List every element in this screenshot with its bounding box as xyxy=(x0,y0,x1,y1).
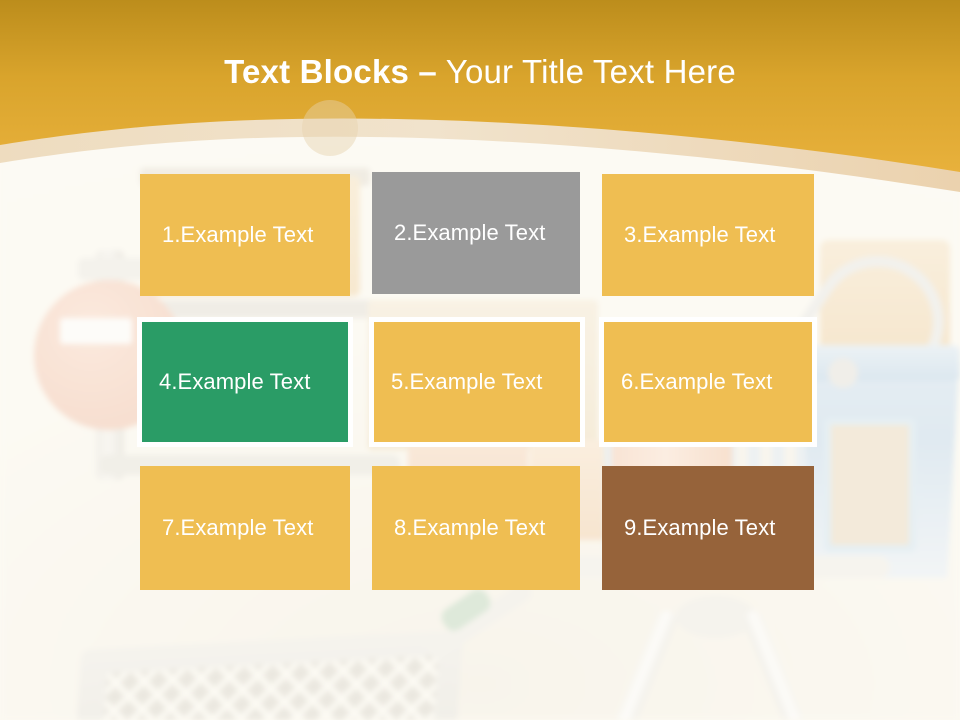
text-block-8[interactable]: 8.Example Text xyxy=(372,466,580,590)
text-block-7[interactable]: 7.Example Text xyxy=(140,466,350,590)
text-block-4[interactable]: 4.Example Text xyxy=(137,317,353,447)
slide-canvas: Text Blocks – Your Title Text Here 1.Exa… xyxy=(0,0,960,720)
text-block-9[interactable]: 9.Example Text xyxy=(602,466,814,590)
text-block-1[interactable]: 1.Example Text xyxy=(140,174,350,296)
text-block-label: 8.Example Text xyxy=(394,515,545,541)
text-block-label: 5.Example Text xyxy=(391,369,542,395)
text-block-label: 1.Example Text xyxy=(162,222,313,248)
text-block-3[interactable]: 3.Example Text xyxy=(602,174,814,296)
text-block-2[interactable]: 2.Example Text xyxy=(372,172,580,294)
text-block-6[interactable]: 6.Example Text xyxy=(599,317,817,447)
text-block-label: 3.Example Text xyxy=(624,222,775,248)
text-block-label: 9.Example Text xyxy=(624,515,775,541)
text-block-label: 4.Example Text xyxy=(159,369,310,395)
text-block-label: 2.Example Text xyxy=(394,220,545,246)
text-block-label: 7.Example Text xyxy=(162,515,313,541)
text-block-label: 6.Example Text xyxy=(621,369,772,395)
text-block-5[interactable]: 5.Example Text xyxy=(369,317,585,447)
